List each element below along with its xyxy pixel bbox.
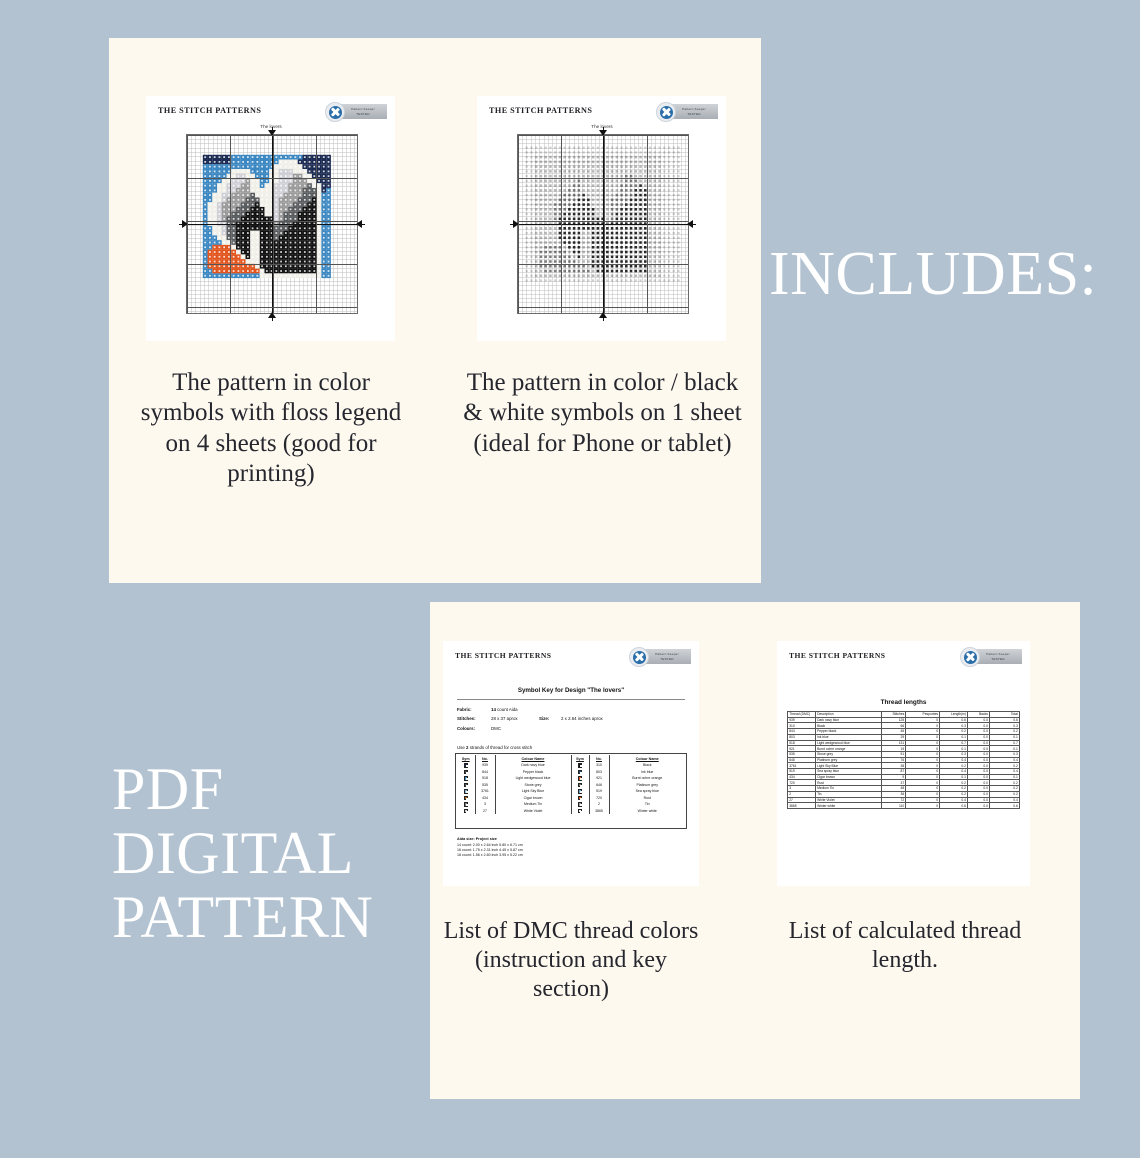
legend-number-right: 3865 (589, 808, 609, 814)
divider (457, 699, 685, 700)
badge-seal-icon (960, 647, 980, 667)
stitch-grid-color (186, 134, 358, 314)
legend-header-no-right: No. (589, 755, 609, 762)
sheet-brand-title: THE STITCH PATTERNS (489, 106, 592, 115)
size-value: 2 x 2.64 inches aprox (561, 716, 603, 721)
badge-seal-icon (629, 647, 649, 667)
center-marker-bottom-icon (599, 312, 607, 318)
pdf-heading-line-2: DIGITAL (112, 821, 373, 885)
thread-row: 27White Violet7200.40.00.4 (788, 797, 1020, 803)
fabric-value: 14 count Aida (491, 707, 539, 712)
badge-ribbon: Pattern Keeper TESTED (643, 649, 691, 664)
chart-bw: The lovers (503, 134, 701, 324)
symbol-key-title: Symbol Key for Design "The lovers" (443, 687, 699, 694)
caption-bw-symbols: The pattern in color / black & white sym… (455, 368, 750, 459)
pattern-keeper-tested-badge: Pattern Keeper TESTED (960, 647, 1022, 667)
pdf-digital-pattern-heading: PDF DIGITAL PATTERN (112, 757, 373, 950)
sheet-brand-title: THE STITCH PATTERNS (789, 651, 885, 660)
td-pespuntes: 0 (906, 803, 940, 809)
includes-top-panel: THE STITCH PATTERNS Pattern Keeper TESTE… (109, 38, 761, 583)
thread-row: 3Medium Tin4800.20.00.2 (788, 786, 1020, 792)
thread-row: 310Black6600.30.00.3 (788, 723, 1020, 729)
thread-lengths-title: Thread lengths (777, 699, 1030, 706)
symbol-key-sheet[interactable]: THE STITCH PATTERNS Pattern Keeper TESTE… (443, 641, 699, 886)
stitch-grid-bw (517, 134, 689, 314)
pattern-keeper-tested-badge: Pattern Keeper TESTED (656, 102, 718, 122)
badge-line-2: TESTED (660, 657, 673, 661)
legend-header-sym-left: Sym (457, 755, 475, 762)
td-total: 0.6 (990, 803, 1020, 809)
thread-row: 921Burnt ochre orange1900.10.00.1 (788, 746, 1020, 752)
pdf-heading-line-1: PDF (112, 757, 373, 821)
center-marker-left-icon (182, 220, 188, 228)
badge-line-2: TESTED (991, 657, 1004, 661)
size-label: Size: (539, 716, 561, 721)
colours-label: Colours: (457, 726, 491, 731)
badge-ribbon: Pattern Keeper TESTED (670, 104, 718, 119)
td-length: 0.6 (940, 803, 968, 809)
td-backs: 0.0 (968, 803, 990, 809)
center-marker-top-icon (599, 130, 607, 136)
strand-note: Use 2 strands of thread for cross stitch (457, 745, 532, 750)
meta-row-stitches: Stitches: 28 x 37 aprox Size: 2 x 2.64 i… (457, 716, 685, 721)
thread-row: 720Rust3700.20.00.2 (788, 780, 1020, 786)
thread-header-row: Thread (DMC) Description Stitches Pespun… (788, 712, 1020, 718)
thread-row: 646Platinum grey7600.40.00.4 (788, 757, 1020, 763)
thread-row: 518Light wedgewood blue13100.70.00.7 (788, 740, 1020, 746)
strand-note-pre: Use (457, 745, 466, 750)
pattern-keeper-tested-badge: Pattern Keeper TESTED (325, 102, 387, 122)
legend-header-no-left: No. (475, 755, 495, 762)
legend-header-name-right: Colour Name (609, 755, 685, 762)
legend-symbol-left (457, 808, 475, 814)
center-marker-bottom-icon (268, 312, 276, 318)
badge-seal-icon (325, 102, 345, 122)
legend-name-right: Winter white (609, 808, 685, 814)
stitches-label: Stitches: (457, 716, 491, 721)
legend-header-name-left: Colour Name (495, 755, 571, 762)
pattern-sheet-bw[interactable]: THE STITCH PATTERNS Pattern Keeper TESTE… (477, 96, 726, 341)
legend-row: 27White Violet3865Winter white (457, 808, 685, 814)
chart-title: The lovers (172, 124, 370, 129)
center-axis-vertical (603, 127, 604, 321)
chart-title: The lovers (503, 124, 701, 129)
badge-ribbon: Pattern Keeper TESTED (339, 104, 387, 119)
meta-row-fabric: Fabric: 14 count Aida (457, 707, 685, 712)
colours-value: DMC (491, 726, 539, 731)
aida-size-block: Aida size: Project size 14 count: 2.00 x… (457, 837, 523, 859)
sheet-brand-title: THE STITCH PATTERNS (455, 651, 551, 660)
includes-bottom-panel: THE STITCH PATTERNS Pattern Keeper TESTE… (430, 602, 1080, 1099)
td-thread: 3865 (788, 803, 816, 809)
thread-row: 939Dark navy blue12500.60.00.6 (788, 717, 1020, 723)
badge-seal-icon (656, 102, 676, 122)
pdf-heading-line-3: PATTERN (112, 885, 373, 949)
legend-number-left: 27 (475, 808, 495, 814)
floss-legend-table: Sym No. Colour Name Sym No. Colour Name … (457, 755, 685, 814)
fabric-label: Fabric: (457, 707, 491, 712)
pattern-sheet-color[interactable]: THE STITCH PATTERNS Pattern Keeper TESTE… (146, 96, 395, 341)
caption-color-symbols: The pattern in color symbols with floss … (140, 368, 402, 489)
meta-row-colours: Colours: DMC (457, 726, 685, 731)
badge-line-2: TESTED (687, 112, 700, 116)
strand-note-post: strands of thread for cross stitch (468, 745, 532, 750)
legend-header-sym-right: Sym (571, 755, 589, 762)
legend-name-left: White Violet (495, 808, 571, 814)
badge-ribbon: Pattern Keeper TESTED (974, 649, 1022, 664)
thread-row: 3761Light Sky Blue3800.20.00.2 (788, 763, 1020, 769)
stitches-value: 28 x 37 aprox (491, 716, 539, 721)
caption-thread-length: List of calculated thread length. (760, 917, 1050, 975)
center-marker-right-icon (356, 220, 362, 228)
center-axis-vertical (272, 127, 273, 321)
thread-row: 803Ink blue2900.10.00.1 (788, 734, 1020, 740)
thread-row: 535Stone grey5100.30.00.3 (788, 751, 1020, 757)
center-marker-left-icon (513, 220, 519, 228)
legend-symbol-right (571, 808, 589, 814)
center-marker-top-icon (268, 130, 276, 136)
fabric-unit: count Aida (496, 707, 518, 712)
badge-line-2: TESTED (356, 112, 369, 116)
symbol-key-meta: Fabric: 14 count Aida Stitches: 28 x 37 … (457, 707, 685, 735)
chart-color: The lovers (172, 134, 370, 324)
td-stitches: 110 (881, 803, 906, 809)
thread-lengths-sheet[interactable]: THE STITCH PATTERNS Pattern Keeper TESTE… (777, 641, 1030, 886)
td-description: Winter white (815, 803, 881, 809)
pattern-keeper-tested-badge: Pattern Keeper TESTED (629, 647, 691, 667)
center-marker-right-icon (687, 220, 693, 228)
thread-row: 3865Winter white11000.60.00.6 (788, 803, 1020, 809)
aida-heading: Aida size: Project size (457, 837, 497, 841)
legend-header-row: Sym No. Colour Name Sym No. Colour Name (457, 755, 685, 762)
includes-heading: INCLUDES: (769, 243, 1097, 305)
thread-row: 844Pepper black4600.20.00.2 (788, 729, 1020, 735)
aida-line: 18 count: 1.56 x 2.60 inch 3.95 x 5.22 c… (457, 853, 523, 858)
thread-row: 519Sea spray blue8700.40.00.4 (788, 769, 1020, 775)
thread-lengths-table: Thread (DMC) Description Stitches Pespun… (787, 711, 1020, 809)
sheet-brand-title: THE STITCH PATTERNS (158, 106, 261, 115)
caption-dmc-list: List of DMC thread colors (instruction a… (443, 917, 699, 1004)
thread-row: 434Cigar brown900.10.00.1 (788, 774, 1020, 780)
